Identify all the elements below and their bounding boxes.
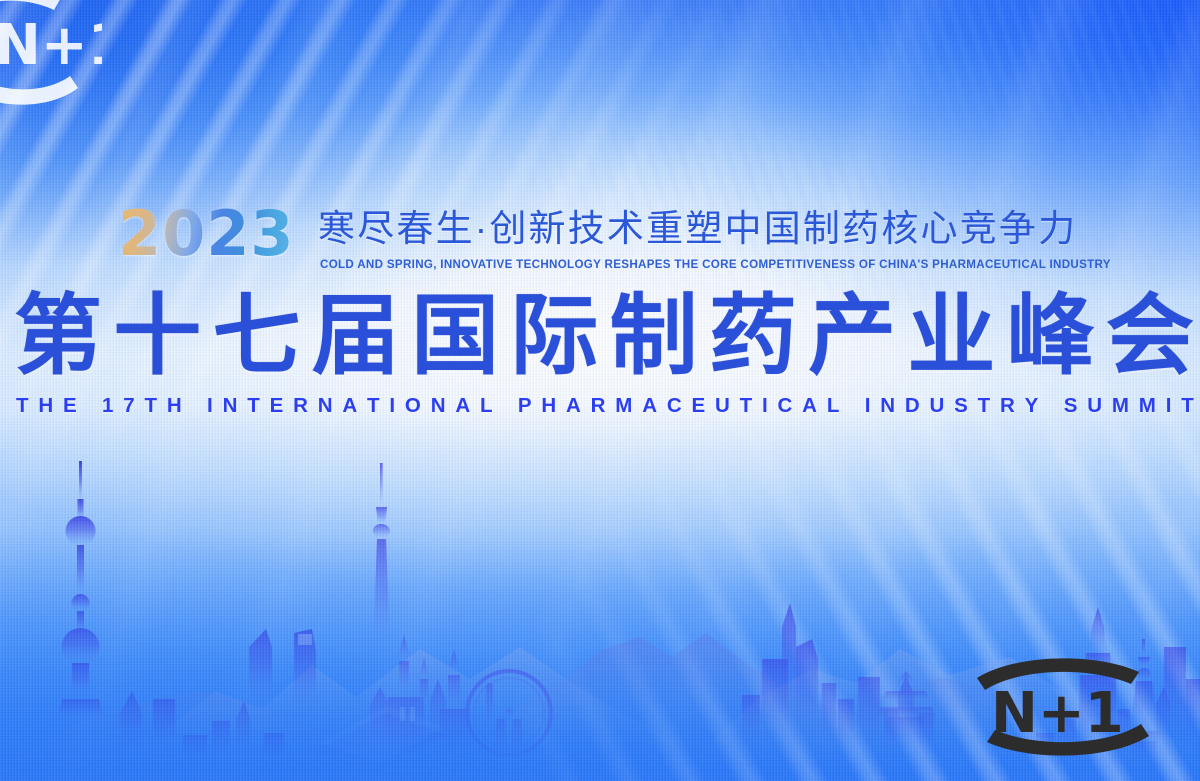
summit-backdrop-screen: 2023 寒尽春生·创新技术重塑中国制药核心竞争力 COLD AND SPRIN… <box>0 0 1200 781</box>
title-char: T <box>247 396 260 417</box>
title-char: 会 <box>1106 292 1194 380</box>
title-char: T <box>16 396 29 417</box>
title-char: M <box>1112 396 1129 417</box>
title-char: 7 <box>123 396 134 417</box>
title-char: 1 <box>102 396 113 417</box>
title-char: D <box>905 396 920 417</box>
title-char: A <box>802 396 817 417</box>
event-slogan-english: COLD AND SPRING, INNOVATIVE TECHNOLOGY R… <box>320 259 1111 271</box>
title-char: M <box>615 396 632 417</box>
event-title-english: THE 17TH INTERNATIONAL PHARMACEUTICAL IN… <box>16 396 1194 417</box>
event-slogan-chinese: 寒尽春生·创新技术重塑中国制药核心竞争力 <box>318 209 1077 249</box>
title-char: 产 <box>808 292 896 380</box>
title-char: 药 <box>709 292 797 380</box>
title-char: A <box>455 396 470 417</box>
title-char: A <box>566 396 581 417</box>
title-char: P <box>518 396 532 417</box>
title-char: N <box>431 396 446 417</box>
title-char: L <box>480 396 493 417</box>
title-char: I <box>389 396 395 417</box>
n-plus-one-logo-corner: N+1 <box>0 0 102 126</box>
title-char: E <box>63 396 77 417</box>
title-char: N <box>880 396 895 417</box>
title-char: S <box>954 396 968 417</box>
title-char: I <box>865 396 871 417</box>
title-char <box>502 396 508 417</box>
title-char: N <box>318 396 333 417</box>
title-char: T <box>978 396 991 417</box>
title-char: U <box>1087 396 1102 417</box>
title-char: 第 <box>14 292 102 380</box>
title-char: 业 <box>907 292 995 380</box>
event-year-badge: 2023 <box>118 203 295 265</box>
title-char: C <box>667 396 682 417</box>
title-char <box>1048 396 1054 417</box>
title-char: H <box>38 396 53 417</box>
title-char <box>849 396 855 417</box>
title-char: M <box>1139 396 1156 417</box>
title-char: R <box>293 396 308 417</box>
title-char: I <box>207 396 213 417</box>
title-char: 制 <box>610 292 698 380</box>
title-char: 峰 <box>1007 292 1095 380</box>
title-char: O <box>405 396 421 417</box>
title-char: 十 <box>113 292 201 380</box>
title-char: A <box>642 396 657 417</box>
title-char: L <box>827 396 840 417</box>
title-char: 七 <box>213 292 301 380</box>
svg-text:N+1: N+1 <box>0 13 102 78</box>
title-char: E <box>270 396 284 417</box>
logo-wordmark: N+1 <box>991 681 1124 746</box>
title-char: C <box>778 396 793 417</box>
title-char: T <box>367 396 380 417</box>
title-char: 国 <box>411 292 499 380</box>
title-char: H <box>541 396 556 417</box>
title-char: 届 <box>312 292 400 380</box>
title-char: H <box>167 396 182 417</box>
title-char: S <box>1064 396 1078 417</box>
title-char: R <box>591 396 606 417</box>
title-char: T <box>740 396 753 417</box>
title-char: U <box>715 396 730 417</box>
title-char: T <box>145 396 158 417</box>
title-char <box>87 396 93 417</box>
title-char: N <box>223 396 238 417</box>
title-char: T <box>1181 396 1194 417</box>
title-char: R <box>1000 396 1015 417</box>
title-char: A <box>342 396 357 417</box>
n-plus-one-logo: N+1 <box>963 648 1163 766</box>
title-char: Y <box>1025 396 1039 417</box>
title-char <box>192 396 198 417</box>
title-char: 际 <box>510 292 598 380</box>
title-char: U <box>930 396 945 417</box>
event-title-chinese: 第十七届国际制药产业峰会 <box>14 292 1194 380</box>
title-char: I <box>762 396 768 417</box>
title-char: E <box>691 396 705 417</box>
title-char: I <box>1166 396 1172 417</box>
